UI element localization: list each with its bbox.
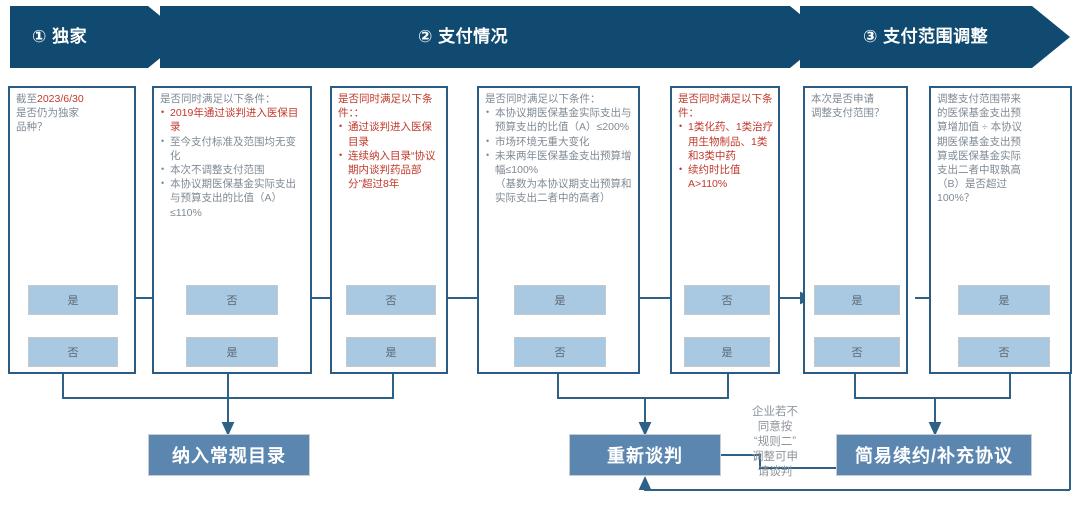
column-scope-request: 本次是否申请 调整支付范围？ 是 否	[803, 86, 908, 374]
chip-col6-no[interactable]: 否	[814, 337, 900, 367]
col7-line-2: 算增加值 ÷ 本协议	[937, 121, 1022, 133]
phase-label-1: ① 独家	[32, 22, 87, 47]
col6-line-1: 调整支付范围？	[811, 107, 885, 119]
col7-line-4: 算或医保基金实际	[937, 150, 1021, 162]
col1-line-0-red: 2023/6/30	[37, 93, 84, 105]
col7-line-5: 支出二者中取孰高	[937, 164, 1021, 176]
col7-line-1: 的医保基金支出预	[937, 107, 1021, 119]
col2-bullet-1: 至今支付标准及范围均无变化	[160, 135, 306, 163]
col3-bullet-1: 连续纳入目录“协议期内谈判药品部分”超过8年	[338, 149, 442, 192]
note-rule-two: 企业若不 同意按 “规则二” 调整可申 请谈判	[733, 405, 817, 480]
col6-line-0: 本次是否申请	[811, 93, 874, 105]
column-payment-condition-b: 是否同时满足以下条件：： 通过谈判进入医保目录 连续纳入目录“协议期内谈判药品部…	[330, 86, 448, 374]
col5-bullet-1: 续约时比值A>110%	[678, 163, 774, 191]
column-payment-condition-a: 是否同时满足以下条件： 2019年通过谈判进入医保目录 至今支付标准及范围均无变…	[152, 86, 312, 374]
outcome-renegotiate[interactable]: 重新谈判	[569, 434, 721, 476]
column-2-text: 是否同时满足以下条件： 2019年通过谈判进入医保目录 至今支付标准及范围均无变…	[160, 92, 306, 220]
col5-bullet-0: 1类化药、1类治疗用生物制品、1类和3类中药	[678, 120, 774, 163]
chip-col3-yes[interactable]: 是	[346, 337, 436, 367]
col1-line-1: 是否仍为独家	[16, 107, 79, 119]
col1-line-2: 品种？	[16, 121, 48, 133]
column-1-text: 截至2023/6/30 是否仍为独家 品种？	[16, 92, 130, 135]
phase-label-2: ② 支付情况	[418, 22, 508, 47]
column-7-text: 调整支付范围带来 的医保基金支出预 算增加值 ÷ 本协议 期医保基金支出预 算或…	[937, 92, 1066, 206]
col2-bullet-2: 本次不调整支付范围	[160, 163, 306, 177]
col7-line-0: 调整支付范围带来	[937, 93, 1021, 105]
col7-line-6: （B）是否超过	[937, 178, 1007, 190]
outcome-simple-renewal[interactable]: 简易续约/补充协议	[836, 434, 1032, 476]
chip-col5-yes[interactable]: 是	[684, 337, 770, 367]
chip-col2-no[interactable]: 否	[186, 285, 278, 315]
col4-bullet-3: （基数为本协议期支出预算和实际支出二者中的高者）	[485, 177, 634, 205]
chip-col3-no[interactable]: 否	[346, 285, 436, 315]
column-payment-condition-d: 是否同时满足以下条件： 1类化药、1类治疗用生物制品、1类和3类中药 续约时比值…	[670, 86, 780, 374]
outcome-regular-catalog[interactable]: 纳入常规目录	[148, 434, 310, 476]
chip-col7-yes[interactable]: 是	[958, 285, 1050, 315]
chip-col1-yes[interactable]: 是	[28, 285, 118, 315]
column-6-text: 本次是否申请 调整支付范围？	[811, 92, 902, 120]
col2-bullet-0: 2019年通过谈判进入医保目录	[160, 106, 306, 134]
chip-col1-no[interactable]: 否	[28, 337, 118, 367]
phase-label-3: ③ 支付范围调整	[863, 22, 988, 47]
col3-bullet-0: 通过谈判进入医保目录	[338, 120, 442, 148]
col5-heading: 是否同时满足以下条件：	[678, 92, 774, 120]
col4-bullet-0: 本协议期医保基金实际支出与预算支出的比值（A）≤200%	[485, 106, 634, 134]
col5-bullets: 1类化药、1类治疗用生物制品、1类和3类中药 续约时比值A>110%	[678, 120, 774, 191]
col4-bullets: 本协议期医保基金实际支出与预算支出的比值（A）≤200% 市场环境无重大变化 未…	[485, 106, 634, 205]
column-scope-budget-ratio: 调整支付范围带来 的医保基金支出预 算增加值 ÷ 本协议 期医保基金支出预 算或…	[929, 86, 1072, 374]
column-4-text: 是否同时满足以下条件： 本协议期医保基金实际支出与预算支出的比值（A）≤200%…	[485, 92, 634, 206]
col4-bullet-2: 未来两年医保基金支出预算增幅≤100%	[485, 149, 634, 177]
col7-line-7: 100%？	[937, 192, 974, 204]
col7-line-3: 期医保基金支出预	[937, 136, 1021, 148]
chip-col2-yes[interactable]: 是	[186, 337, 278, 367]
col1-line-0-plain: 截至	[16, 93, 37, 105]
column-exclusivity: 截至2023/6/30 是否仍为独家 品种？ 是 否	[8, 86, 136, 374]
col2-bullets: 2019年通过谈判进入医保目录 至今支付标准及范围均无变化 本次不调整支付范围 …	[160, 106, 306, 220]
col4-bullet-1: 市场环境无重大变化	[485, 135, 634, 149]
chip-col6-yes[interactable]: 是	[814, 285, 900, 315]
column-3-text: 是否同时满足以下条件：： 通过谈判进入医保目录 连续纳入目录“协议期内谈判药品部…	[338, 92, 442, 191]
col3-heading: 是否同时满足以下条件：：	[338, 92, 442, 120]
col3-bullets: 通过谈判进入医保目录 连续纳入目录“协议期内谈判药品部分”超过8年	[338, 120, 442, 191]
chip-col5-no[interactable]: 否	[684, 285, 770, 315]
column-5-text: 是否同时满足以下条件： 1类化药、1类治疗用生物制品、1类和3类中药 续约时比值…	[678, 92, 774, 191]
col2-heading: 是否同时满足以下条件：	[160, 92, 306, 106]
chip-col4-yes[interactable]: 是	[514, 285, 606, 315]
chip-col4-no[interactable]: 否	[514, 337, 606, 367]
column-payment-condition-c: 是否同时满足以下条件： 本协议期医保基金实际支出与预算支出的比值（A）≤200%…	[477, 86, 640, 374]
col4-heading: 是否同时满足以下条件：	[485, 92, 634, 106]
col2-bullet-3: 本协议期医保基金实际支出与预算支出的比值（A）≤110%	[160, 177, 306, 220]
chip-col7-no[interactable]: 否	[958, 337, 1050, 367]
